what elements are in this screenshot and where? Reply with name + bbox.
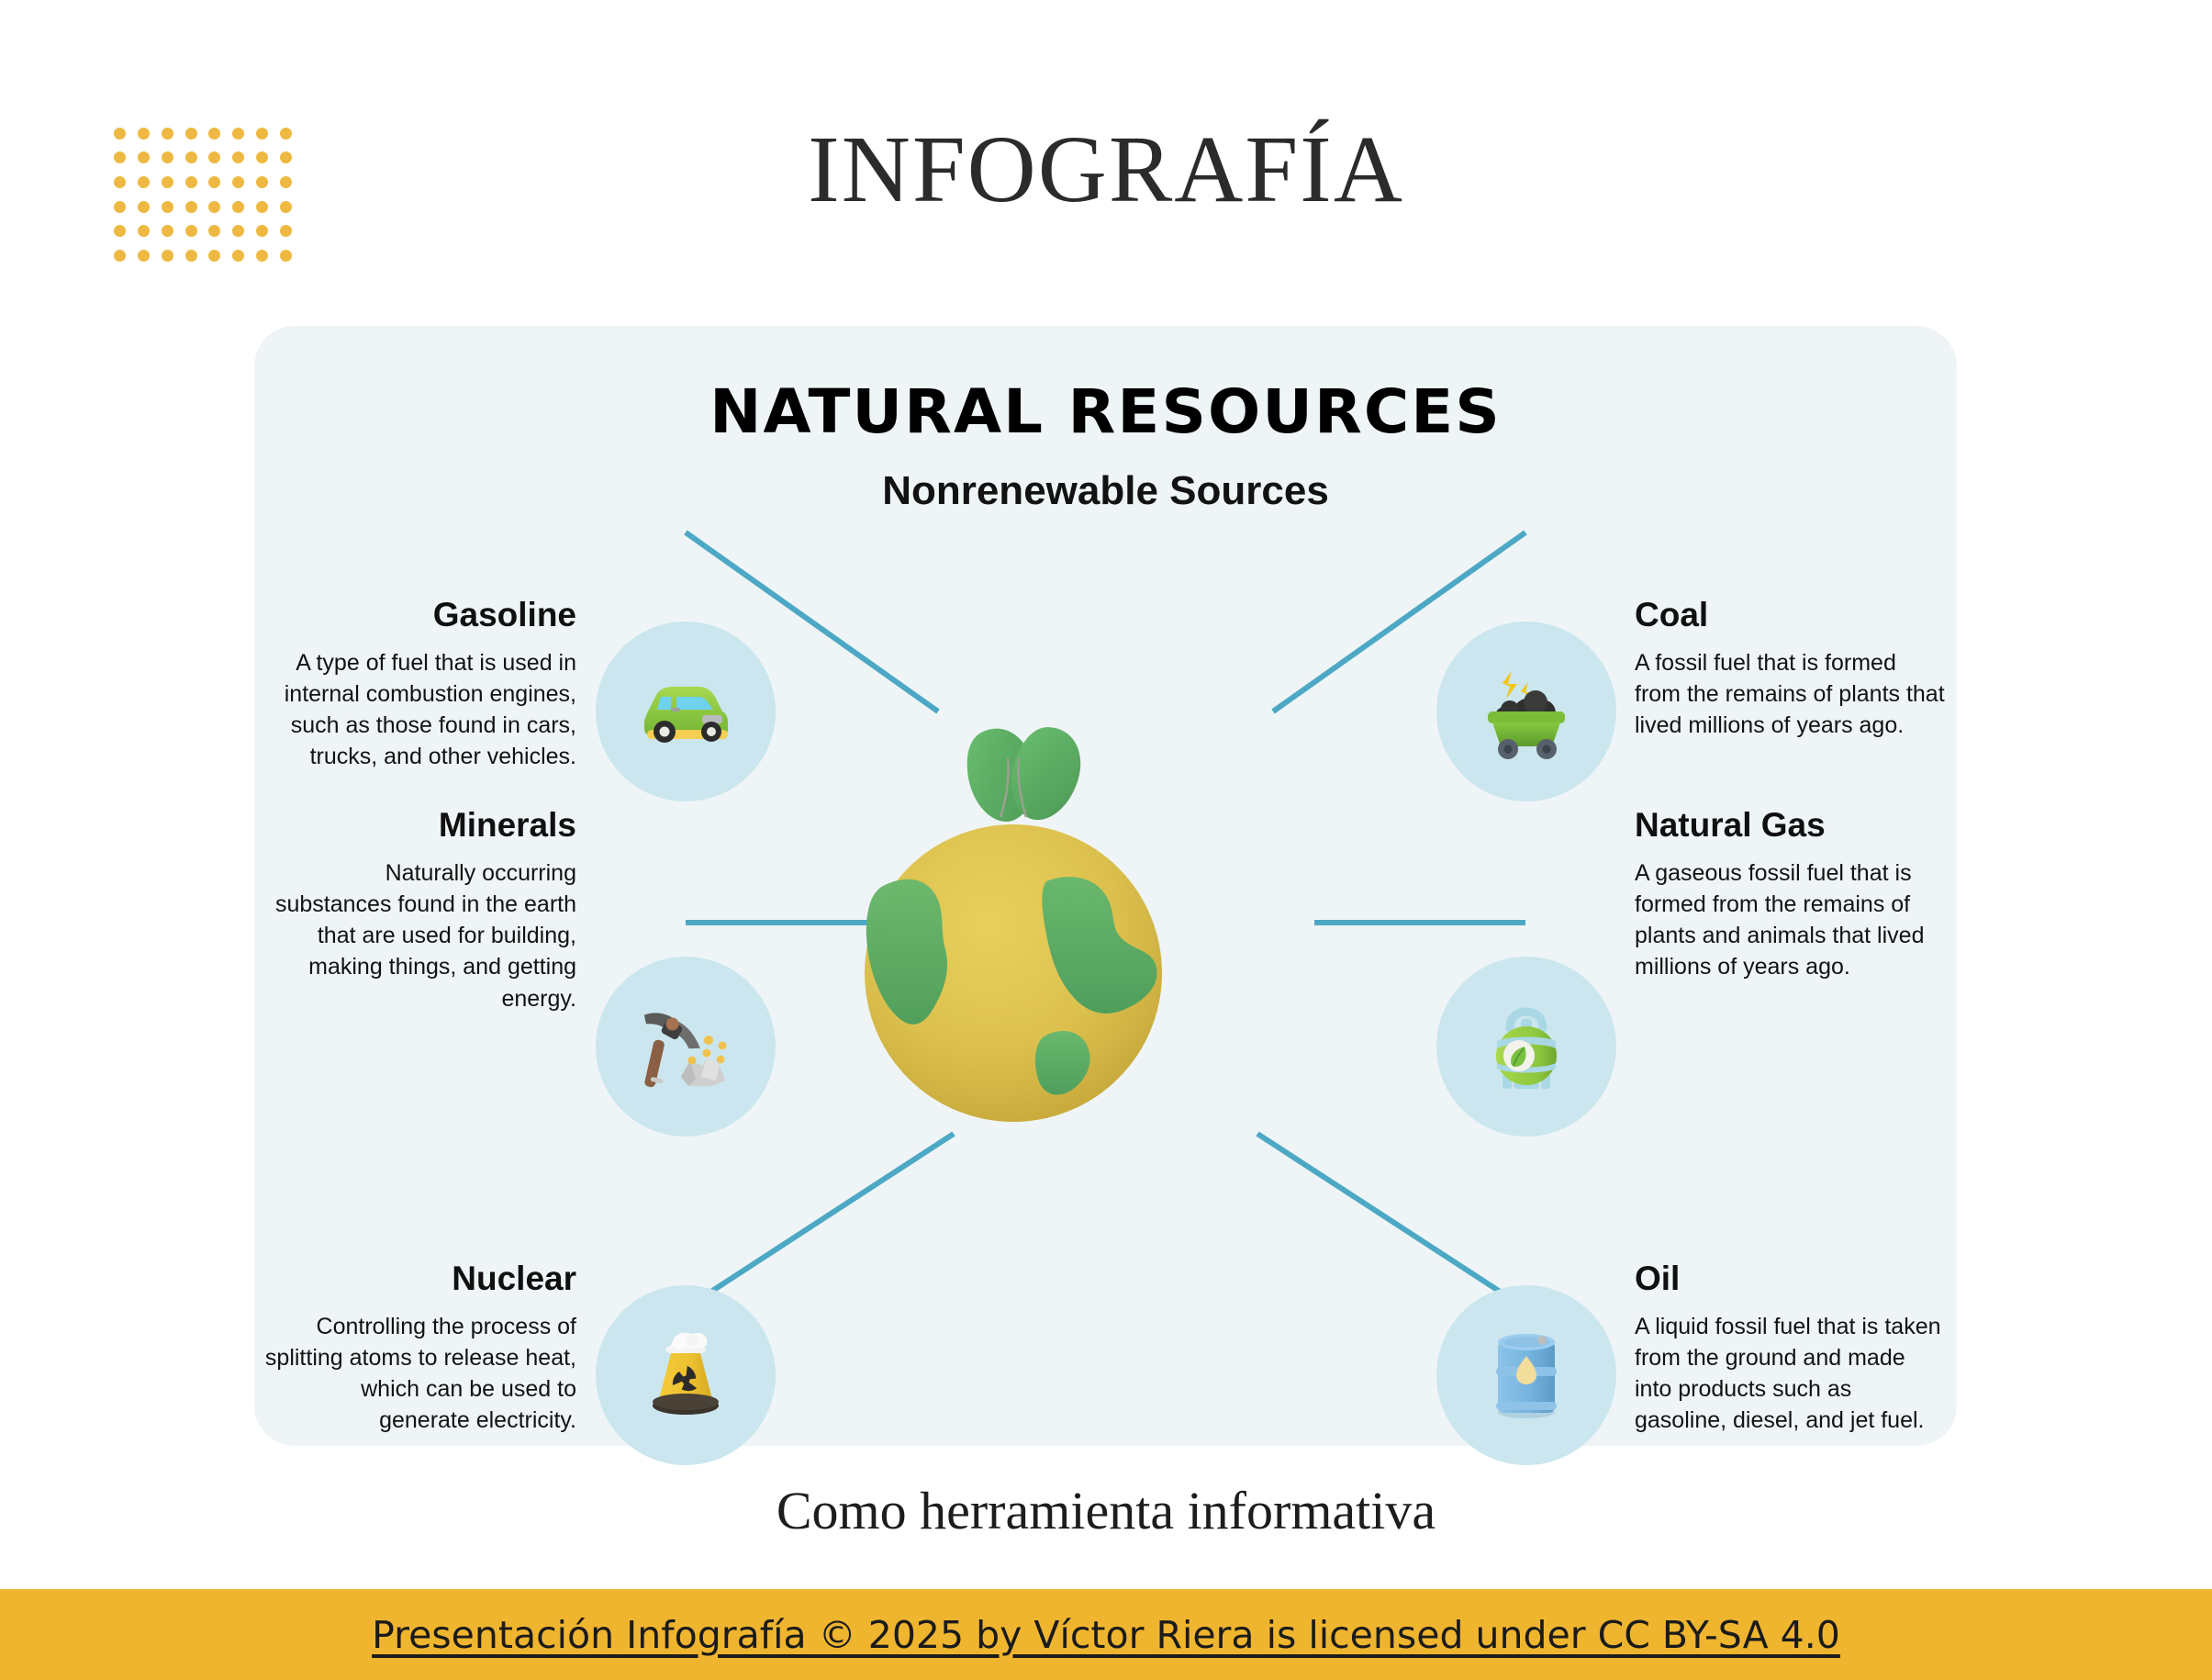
item-description-gasoline: A type of fuel that is used in internal …	[264, 647, 576, 773]
item-title-gasoline: Gasoline	[264, 597, 576, 634]
item-description-natural-gas: A gaseous fossil fuel that is formed fro…	[1635, 857, 1947, 983]
item-coal: Coal A fossil fuel that is formed from t…	[1635, 597, 1947, 741]
bottom-caption: Como herramienta informativa	[0, 1480, 2212, 1541]
icon-circle-nuclear[interactable]	[596, 1285, 776, 1465]
pickaxe-rocks-icon	[628, 989, 743, 1104]
icon-circle-gasoline[interactable]	[596, 622, 776, 801]
green-car-icon	[631, 656, 741, 767]
dot	[185, 250, 197, 262]
dot	[114, 250, 126, 262]
dot	[280, 225, 292, 237]
dot	[280, 250, 292, 262]
dot	[114, 225, 126, 237]
item-natural-gas: Natural Gas A gaseous fossil fuel that i…	[1635, 807, 1947, 983]
item-minerals: Minerals Naturally occurring substances …	[264, 807, 576, 1014]
item-description-nuclear: Controlling the process of splitting ato…	[264, 1311, 576, 1437]
page-title: INFOGRAFÍA	[0, 122, 2212, 218]
item-nuclear: Nuclear Controlling the process of split…	[264, 1260, 576, 1437]
license-bar: Presentación Infografía © 2025 by Víctor…	[0, 1589, 2212, 1680]
infographic-card: NATURAL RESOURCES Nonrenewable Sources	[254, 326, 1957, 1446]
dot	[256, 225, 268, 237]
dot	[232, 225, 244, 237]
dot	[162, 225, 173, 237]
icon-circle-natural-gas[interactable]	[1436, 957, 1616, 1137]
item-description-oil: A liquid fossil fuel that is taken from …	[1635, 1311, 1947, 1437]
item-gasoline: Gasoline A type of fuel that is used in …	[264, 597, 576, 773]
item-description-minerals: Naturally occurring substances found in …	[264, 857, 576, 1014]
earth-globe-with-leaves-icon	[830, 707, 1197, 1138]
icon-circle-minerals[interactable]	[596, 957, 776, 1137]
item-oil: Oil A liquid fossil fuel that is taken f…	[1635, 1260, 1947, 1437]
oil-barrel-icon	[1472, 1321, 1581, 1429]
dot	[208, 250, 220, 262]
item-title-minerals: Minerals	[264, 807, 576, 845]
dot	[256, 250, 268, 262]
icon-circle-coal[interactable]	[1436, 622, 1616, 801]
dot	[162, 250, 173, 262]
item-title-natural-gas: Natural Gas	[1635, 807, 1947, 845]
dot	[232, 250, 244, 262]
icon-circle-oil[interactable]	[1436, 1285, 1616, 1465]
item-title-coal: Coal	[1635, 597, 1947, 634]
gas-canister-icon	[1471, 991, 1581, 1102]
dot	[208, 225, 220, 237]
dot	[138, 250, 150, 262]
coal-mine-cart-icon	[1471, 656, 1581, 767]
item-description-coal: A fossil fuel that is formed from the re…	[1635, 647, 1947, 742]
dot	[185, 225, 197, 237]
license-link[interactable]: Presentación Infografía © 2025 by Víctor…	[372, 1613, 1840, 1657]
item-title-oil: Oil	[1635, 1260, 1947, 1298]
item-title-nuclear: Nuclear	[264, 1260, 576, 1298]
dot	[138, 225, 150, 237]
nuclear-cooling-tower-icon	[631, 1320, 741, 1430]
